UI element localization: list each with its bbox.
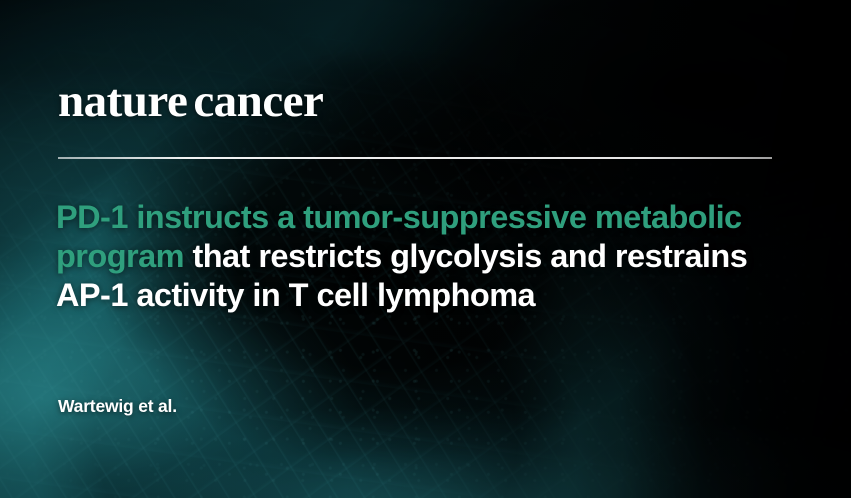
article-title-line3: AP-1 activity in T cell lymphoma bbox=[56, 277, 535, 313]
masthead-word-nature: nature bbox=[58, 75, 187, 127]
article-authors: Wartewig et al. bbox=[58, 396, 177, 417]
masthead-divider-rule bbox=[58, 157, 772, 159]
article-title-highlight-word: program bbox=[56, 238, 184, 274]
article-title-line2-rest: that restricts glycolysis and restrains bbox=[184, 238, 747, 274]
article-title-line1: PD-1 instructs a tumor-suppressive metab… bbox=[56, 199, 742, 235]
journal-cover-card: naturecancer PD-1 instructs a tumor-supp… bbox=[0, 0, 851, 498]
article-title: PD-1 instructs a tumor-suppressive metab… bbox=[56, 198, 796, 315]
cover-content: naturecancer PD-1 instructs a tumor-supp… bbox=[0, 0, 851, 498]
journal-masthead: naturecancer bbox=[58, 78, 323, 125]
masthead-word-cancer: cancer bbox=[193, 75, 323, 127]
